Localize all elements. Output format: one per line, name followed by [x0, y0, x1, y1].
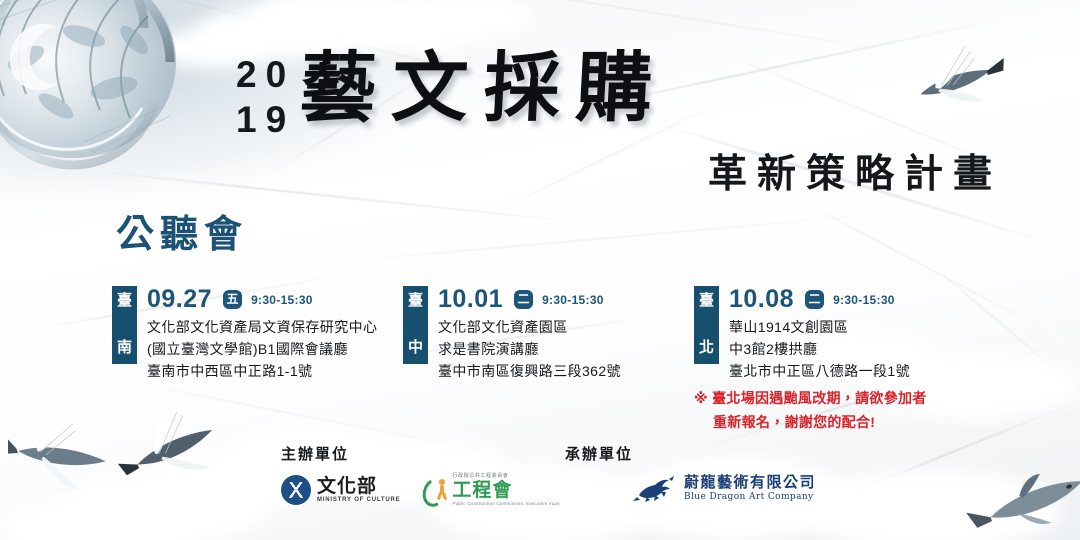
- event-item-taichung: 臺 中 10.01 二 9:30-15:30 文化部文化資產園區 求是書院演講廳…: [403, 286, 621, 382]
- section-heading: 公聽會: [116, 212, 248, 258]
- host-organizer-block: 主辦單位 文化部 MINISTRY OF CULTURE 行政院公共工程委: [281, 445, 560, 507]
- event-item-taipei: 臺 北 10.08 二 9:30-15:30 華山1914文創園區 中3館2樓拱…: [694, 286, 910, 382]
- moc-name-en: MINISTRY OF CULTURE: [317, 496, 400, 505]
- blue-dragon-name-cn: 蔚龍藝術有限公司: [684, 473, 816, 491]
- page-subtitle: 革新策略計畫: [708, 152, 1002, 198]
- moc-emblem-icon: [281, 475, 311, 505]
- city-badge-taichung: 臺 中: [403, 286, 428, 364]
- event-venue-line: 文化部文化資產局文資保存研究中心: [147, 316, 377, 338]
- event-item-tainan: 臺 南 09.27 五 9:30-15:30 文化部文化資產局文資保存研究中心 …: [112, 286, 377, 382]
- event-date: 09.27: [147, 286, 212, 313]
- host-organizer-label: 主辦單位: [281, 445, 560, 465]
- flying-fish-icon: [900, 40, 1012, 120]
- blue-dragon-art-logo: 蔚龍藝術有限公司 Blue Dragon Art Company: [631, 473, 816, 503]
- notice-line-2: 重新報名，謝謝您的配合!: [694, 410, 994, 434]
- city-char-bottom: 北: [699, 338, 714, 358]
- event-list: 臺 南 09.27 五 9:30-15:30 文化部文化資產局文資保存研究中心 …: [0, 286, 1080, 396]
- nautilus-spiral-art: [0, 0, 194, 176]
- event-address-line: 臺中市南區復興路三段362號: [438, 360, 621, 382]
- organizer-section: 主辦單位 文化部 MINISTRY OF CULTURE 行政院公共工程委: [0, 445, 1080, 540]
- pcc-name-en: Public Construction Commission, Executiv…: [452, 500, 559, 507]
- event-venue-line: (國立臺灣文學館)B1國際會議廳: [147, 338, 377, 360]
- city-badge-taipei: 臺 北: [694, 286, 719, 364]
- event-time: 9:30-15:30: [833, 293, 895, 307]
- moc-name-cn: 文化部: [317, 476, 400, 496]
- executive-organizer-label: 承辦單位: [565, 445, 816, 465]
- pcc-emblem-icon: [422, 477, 448, 503]
- weekday-badge: 二: [514, 290, 533, 309]
- event-venue-line: 文化部文化資產園區: [438, 316, 621, 338]
- poster-banner: 20 19 藝文採購 革新策略計畫 公聽會 臺 南 09.27 五 9:30-1…: [0, 0, 1080, 540]
- public-construction-commission-logo: 行政院公共工程委員會 工程會 Public Construction Commi…: [422, 473, 559, 507]
- blue-dragon-name-en: Blue Dragon Art Company: [684, 491, 816, 503]
- weekday-badge: 五: [223, 290, 242, 309]
- event-time: 9:30-15:30: [542, 293, 604, 307]
- event-venue-line: 中3館2樓拱廳: [729, 338, 910, 360]
- city-char-top: 臺: [408, 291, 423, 311]
- event-address-line: 臺北市中正區八德路一段1號: [729, 360, 910, 382]
- event-venue-line: 華山1914文創園區: [729, 316, 910, 338]
- event-date: 10.01: [438, 286, 503, 313]
- city-char-top: 臺: [117, 291, 132, 311]
- executive-organizer-block: 承辦單位 蔚龍藝: [565, 445, 816, 503]
- city-badge-tainan: 臺 南: [112, 286, 137, 364]
- pcc-name-cn: 工程會: [452, 480, 559, 500]
- event-venue-line: 求是書院演講廳: [438, 338, 621, 360]
- weekday-badge: 二: [805, 290, 824, 309]
- notice-line-1: ※ 臺北場因遇颱風改期，請欲參加者: [694, 386, 994, 410]
- ministry-of-culture-logo: 文化部 MINISTRY OF CULTURE: [281, 475, 400, 505]
- reschedule-notice: ※ 臺北場因遇颱風改期，請欲參加者 重新報名，謝謝您的配合!: [694, 386, 994, 434]
- event-date: 10.08: [729, 286, 794, 313]
- city-char-top: 臺: [699, 291, 714, 311]
- city-char-bottom: 中: [408, 338, 423, 358]
- dragon-icon: [631, 473, 677, 503]
- event-time: 9:30-15:30: [251, 293, 313, 307]
- event-address-line: 臺南市中西區中正路1-1號: [147, 360, 377, 382]
- city-char-bottom: 南: [117, 338, 132, 358]
- page-title: 藝文採購: [298, 44, 671, 132]
